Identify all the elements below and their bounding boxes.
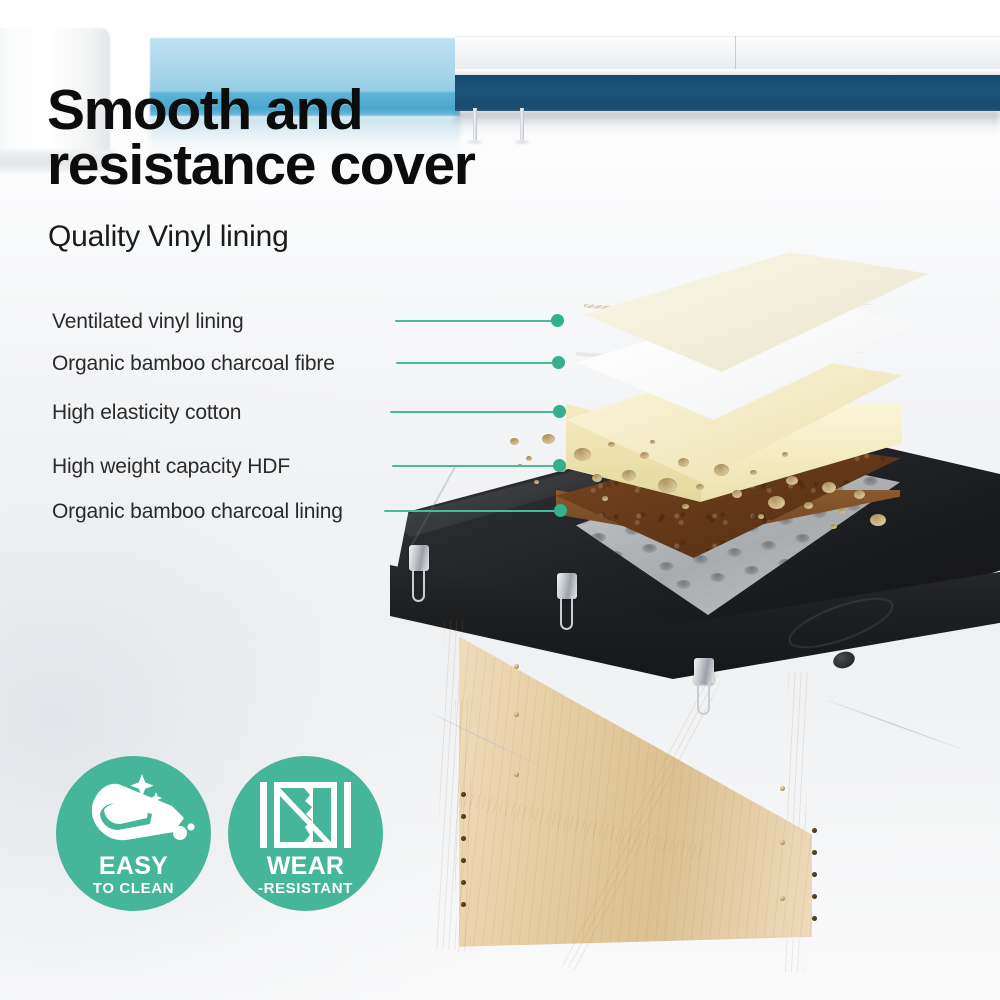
callout-line-4: [384, 510, 566, 512]
infographic-canvas: Smooth and resistance cover Quality Viny…: [0, 0, 1000, 1000]
callout-label-2: High elasticity cotton: [52, 401, 241, 425]
callout-dot-3: [553, 459, 566, 472]
callout-dot-4: [554, 504, 567, 517]
callout-dot-1: [552, 356, 565, 369]
badge-easy-line1: EASY: [56, 852, 211, 881]
callout-line-2: [390, 411, 565, 413]
no-tear-icon: [228, 770, 383, 861]
callout-label-1: Organic bamboo charcoal fibre: [52, 352, 335, 376]
callout-line-3: [392, 465, 565, 467]
callout-dot-2: [553, 405, 566, 418]
callout-line-1: [396, 362, 564, 364]
hand-wiping-cloth-icon: [56, 770, 211, 861]
callout-label-0: Ventilated vinyl lining: [52, 310, 244, 334]
callout-line-0: [395, 320, 563, 322]
badge-wear-line2: -RESISTANT: [228, 880, 383, 897]
badge-easy-line2: TO CLEAN: [56, 880, 211, 897]
badge-wear-line1: WEAR: [228, 852, 383, 881]
callout-label-3: High weight capacity HDF: [52, 455, 290, 479]
callout-dot-0: [551, 314, 564, 327]
callout-label-4: Organic bamboo charcoal lining: [52, 500, 343, 524]
